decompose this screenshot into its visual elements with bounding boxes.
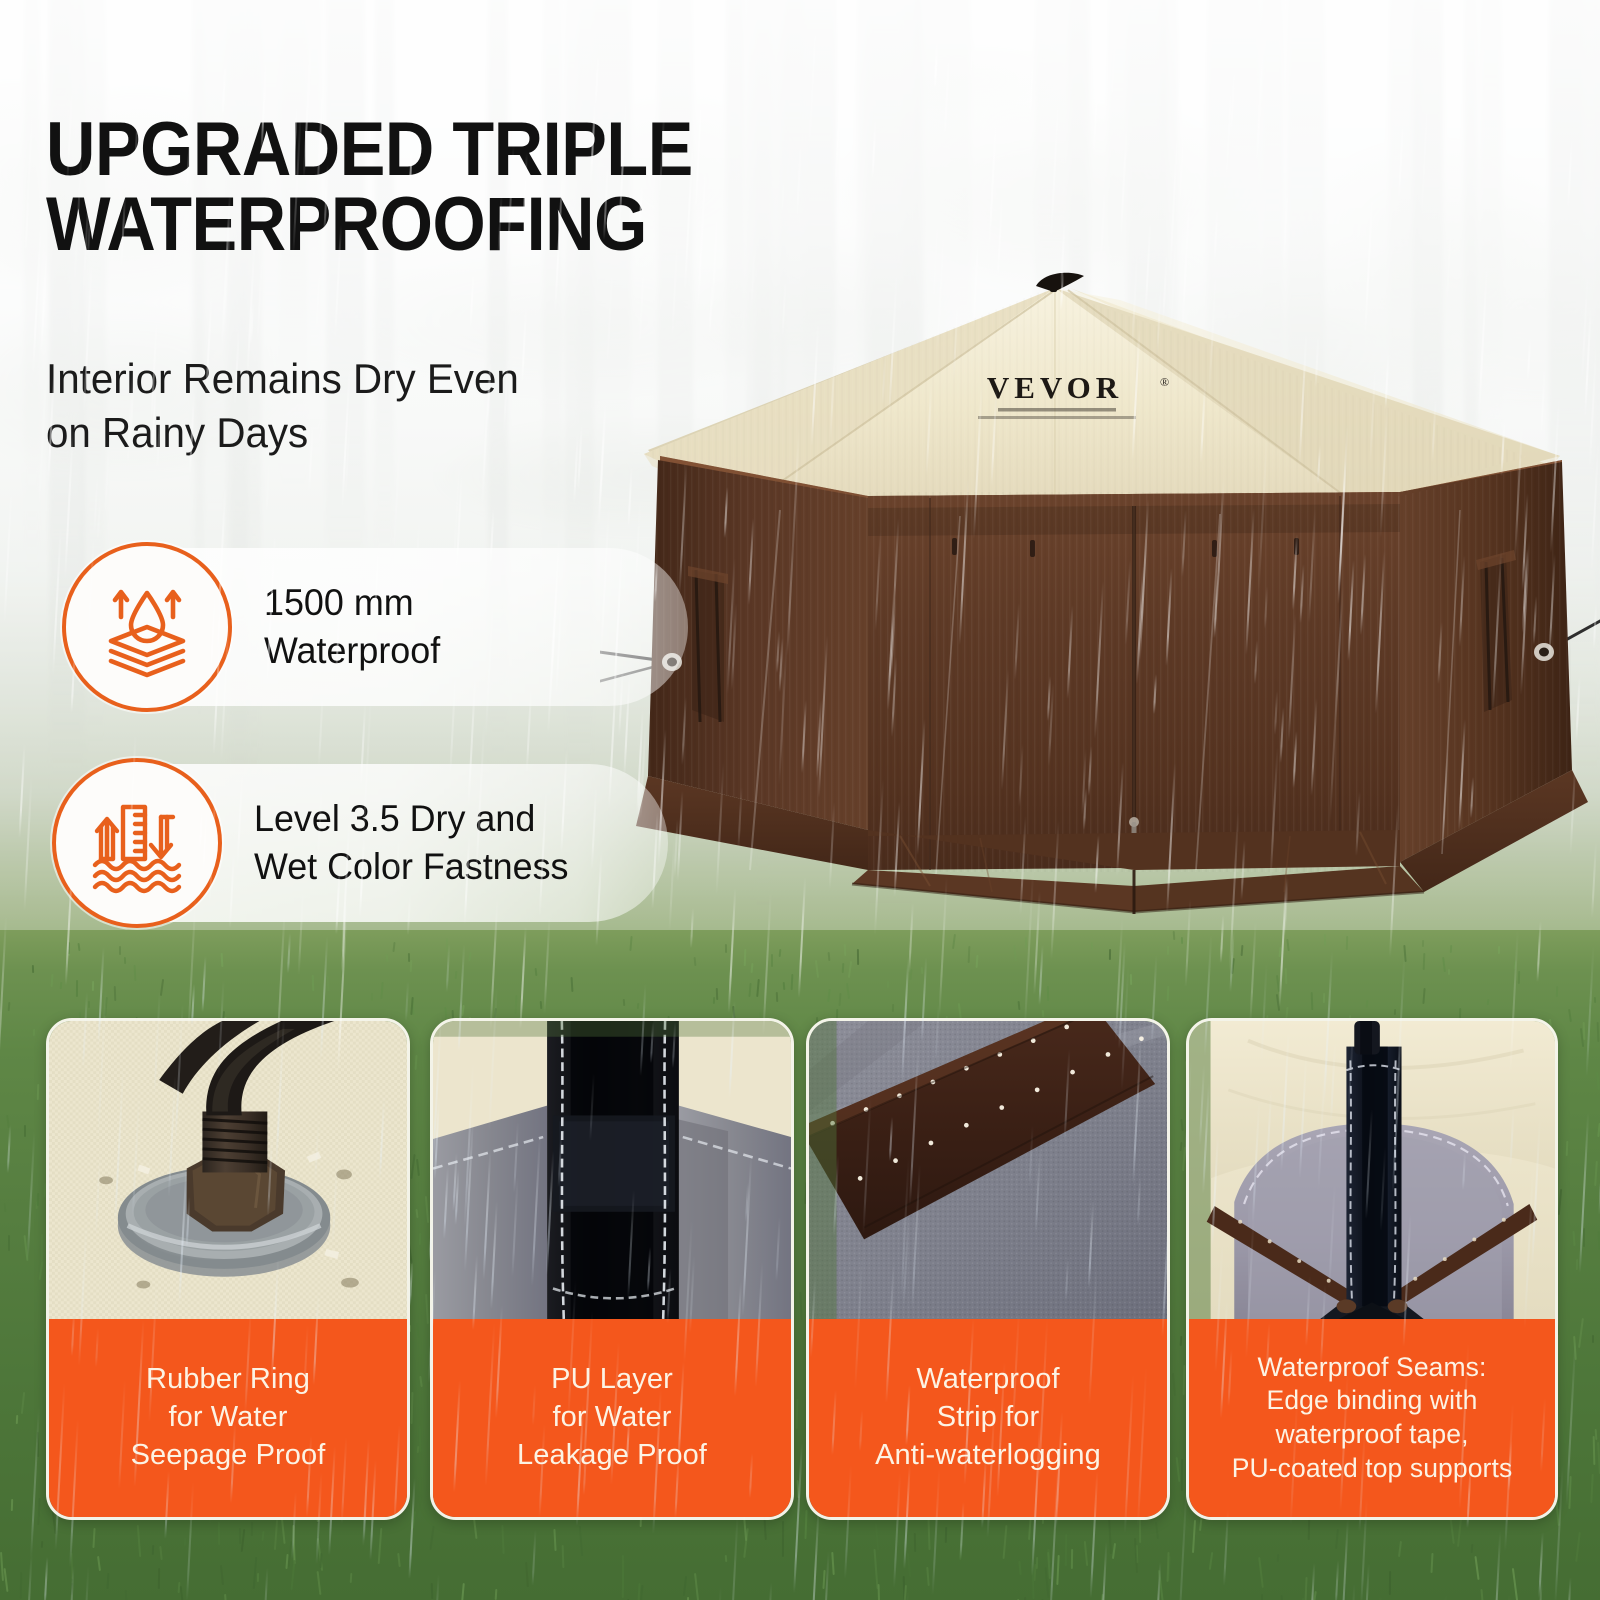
- card-2-caption-line-3: Leakage Proof: [517, 1437, 707, 1475]
- feature-2-line-2: Wet Color Fastness: [254, 843, 568, 891]
- card-1-caption-line-2: for Water: [168, 1399, 287, 1437]
- card-1-caption-line-3: Seepage Proof: [131, 1437, 326, 1475]
- pu-layer-strap-photo: [433, 1021, 791, 1325]
- card-4-caption-line-1: Waterproof Seams:: [1258, 1351, 1487, 1385]
- waterproof-layers-icon: [62, 542, 232, 712]
- detail-cards-row: Rubber Ring for Water Seepage Proof: [0, 1018, 1600, 1538]
- color-fastness-gauge-icon: [52, 758, 222, 928]
- waterproof-strip-photo: [809, 1021, 1167, 1325]
- page-subtitle: Interior Remains Dry Even on Rainy Days: [46, 352, 660, 460]
- feature-2-line-1: Level 3.5 Dry and: [254, 795, 568, 843]
- page-title: UPGRADED TRIPLE WATERPROOFING: [46, 112, 784, 262]
- feature-1-line-1: 1500 mm: [264, 579, 440, 627]
- gazebo-tent-product: VEVOR ®: [600, 270, 1600, 950]
- headline-line-2: WATERPROOFING: [46, 187, 784, 262]
- card-3-caption-line-2: Strip for: [937, 1399, 1039, 1437]
- svg-text:®: ®: [1160, 375, 1169, 389]
- card-2-caption-line-2: for Water: [552, 1399, 671, 1437]
- detail-card-rubber-ring: Rubber Ring for Water Seepage Proof: [46, 1018, 410, 1520]
- card-4-caption-line-2: Edge binding with: [1267, 1384, 1478, 1418]
- card-3-caption-line-1: Waterproof: [916, 1361, 1059, 1399]
- subhead-line-1: Interior Remains Dry Even: [46, 352, 660, 406]
- card-1-caption-line-1: Rubber Ring: [146, 1361, 310, 1399]
- detail-card-pu-layer: PU Layer for Water Leakage Proof: [430, 1018, 794, 1520]
- card-4-caption-line-3: waterproof tape,: [1275, 1418, 1468, 1452]
- card-3-caption-line-3: Anti-waterlogging: [875, 1437, 1101, 1475]
- card-4-caption: Waterproof Seams: Edge binding with wate…: [1189, 1319, 1555, 1517]
- card-3-caption: Waterproof Strip for Anti-waterlogging: [809, 1319, 1167, 1517]
- headline-line-1: UPGRADED TRIPLE: [46, 107, 693, 192]
- feature-1-line-2: Waterproof: [264, 627, 440, 675]
- infographic-stage: VEVOR ® UPGRADED TRIPLE WATERPROOFING In…: [0, 0, 1600, 1600]
- card-2-caption: PU Layer for Water Leakage Proof: [433, 1319, 791, 1517]
- card-2-caption-line-1: PU Layer: [551, 1361, 673, 1399]
- detail-card-waterproof-strip: Waterproof Strip for Anti-waterlogging: [806, 1018, 1170, 1520]
- feature-pill-waterproof-text: 1500 mm Waterproof: [264, 579, 440, 675]
- card-4-caption-line-4: PU-coated top supports: [1232, 1452, 1513, 1486]
- svg-text:VEVOR: VEVOR: [987, 370, 1123, 405]
- waterproof-seams-photo: [1189, 1021, 1555, 1325]
- rubber-ring-grommet-photo: [49, 1021, 407, 1325]
- feature-pill-color-fastness: Level 3.5 Dry and Wet Color Fastness: [58, 764, 668, 922]
- subhead-line-2: on Rainy Days: [46, 406, 660, 460]
- detail-card-waterproof-seams: Waterproof Seams: Edge binding with wate…: [1186, 1018, 1558, 1520]
- feature-pill-waterproof: 1500 mm Waterproof: [68, 548, 688, 706]
- feature-pill-color-fastness-text: Level 3.5 Dry and Wet Color Fastness: [254, 795, 568, 891]
- card-1-caption: Rubber Ring for Water Seepage Proof: [49, 1319, 407, 1517]
